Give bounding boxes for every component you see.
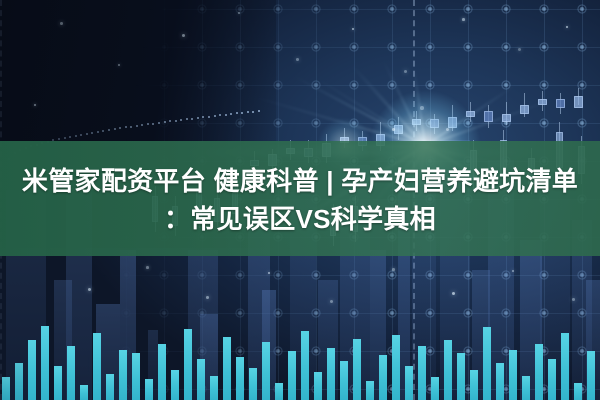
sparkle (452, 292, 455, 295)
sparkle (446, 128, 449, 131)
sparkle (392, 268, 395, 271)
sparkle (182, 34, 185, 37)
sparkle (462, 18, 465, 21)
sparkle (118, 64, 120, 66)
sparkle (518, 48, 521, 51)
sparkle (512, 270, 514, 272)
sparkle (60, 22, 63, 25)
sparkle-particles (0, 0, 600, 400)
sparkle (392, 128, 395, 131)
cover-image: 米管家配资平台 健康科普 | 孕产妇营养避坑清单 ：常见误区VS科学真相 (0, 0, 600, 400)
sparkle (268, 272, 270, 274)
sparkle (572, 298, 575, 301)
sparkle (88, 288, 91, 291)
sparkle (404, 70, 407, 73)
sparkle (206, 296, 209, 299)
sparkle (330, 300, 333, 303)
sparkle (420, 106, 424, 110)
sparkle (352, 28, 354, 30)
sparkle (34, 104, 36, 106)
sparkle (238, 12, 240, 14)
sparkle (296, 58, 299, 61)
sparkle (146, 266, 149, 269)
sparkle (566, 26, 568, 28)
